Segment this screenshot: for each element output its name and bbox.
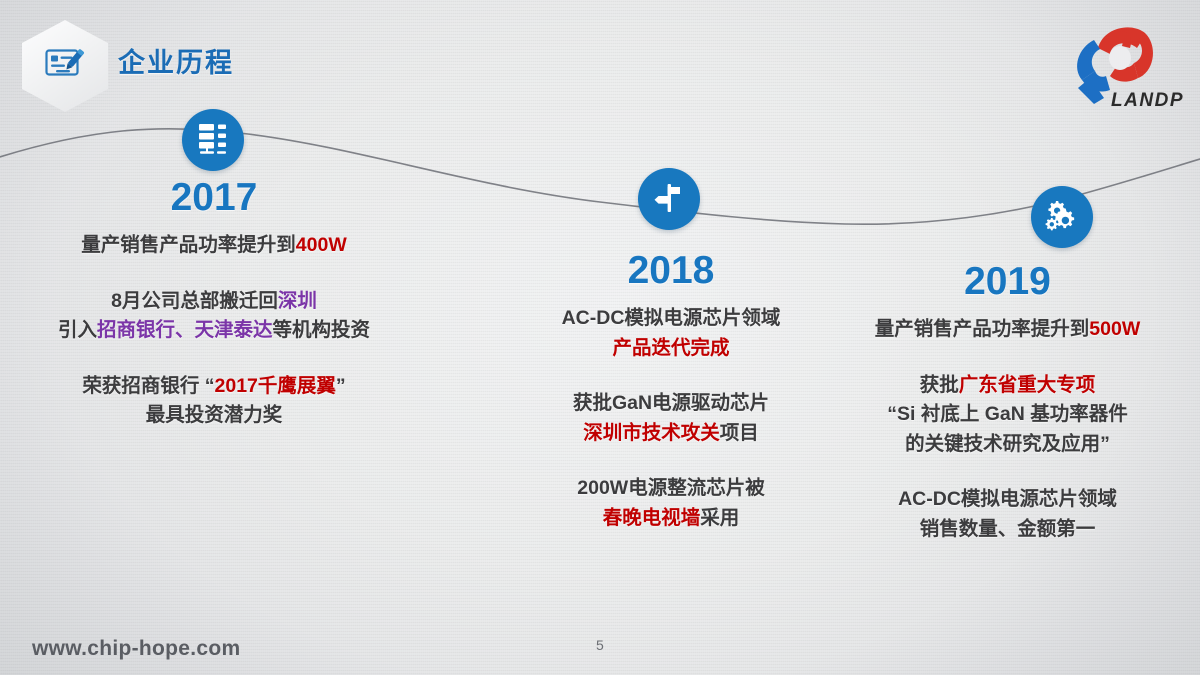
milestone-paragraph: 200W电源整流芯片被春晚电视墙采用 <box>475 474 867 533</box>
milestone-node-2018[interactable] <box>638 168 700 230</box>
milestone-line: 量产销售产品功率提升到400W <box>18 231 410 261</box>
milestone-line: 的关键技术研究及应用” <box>820 430 1195 460</box>
milestone-body: AC-DC模拟电源芯片领域产品迭代完成获批GaN电源驱动芯片深圳市技术攻关项目2… <box>475 304 867 534</box>
page-title: 企业历程 <box>118 41 234 80</box>
logo-wordmark: LANDP <box>1111 90 1184 112</box>
milestone-column-2018: 2018 AC-DC模拟电源芯片领域产品迭代完成获批GaN电源驱动芯片深圳市技术… <box>475 251 867 534</box>
text-run: 2017千鹰展翼 <box>215 375 336 397</box>
milestone-column-2017: 2017 量产销售产品功率提升到400W8月公司总部搬迁回深圳引入招商银行、天津… <box>18 178 410 431</box>
milestone-line: 获批GaN电源驱动芯片 <box>475 389 867 419</box>
text-run: 400W <box>296 234 347 256</box>
text-run: 深圳市技术攻关 <box>583 422 720 444</box>
text-run: 等机构投资 <box>273 319 371 341</box>
milestone-line: 引入招商银行、天津泰达等机构投资 <box>18 316 410 346</box>
text-run: 广东省重大专项 <box>959 374 1096 396</box>
milestone-line: 产品迭代完成 <box>475 334 867 364</box>
text-run: 采用 <box>700 507 739 529</box>
text-run: 获批GaN电源驱动芯片 <box>573 392 769 414</box>
milestone-line: 春晚电视墙采用 <box>475 504 867 534</box>
milestone-paragraph: 量产销售产品功率提升到400W <box>18 231 410 261</box>
text-run: 量产销售产品功率提升到 <box>81 234 296 256</box>
milestone-line: AC-DC模拟电源芯片领域 <box>820 485 1195 515</box>
milestone-year: 2017 <box>18 178 410 219</box>
text-run: “Si 衬底上 GaN 基功率器件 <box>887 403 1128 425</box>
milestone-column-2019: 2019 量产销售产品功率提升到500W获批广东省重大专项“Si 衬底上 GaN… <box>820 262 1195 545</box>
milestone-line: 量产销售产品功率提升到500W <box>820 315 1195 345</box>
milestone-line: 最具投资潜力奖 <box>18 401 410 431</box>
text-run: 深圳 <box>278 290 317 312</box>
milestone-paragraph: 荣获招商银行 “2017千鹰展翼”最具投资潜力奖 <box>18 372 410 431</box>
milestone-line: 荣获招商银行 “2017千鹰展翼” <box>18 372 410 402</box>
milestone-body: 量产销售产品功率提升到500W获批广东省重大专项“Si 衬底上 GaN 基功率器… <box>820 315 1195 545</box>
milestone-paragraph: 量产销售产品功率提升到500W <box>820 315 1195 345</box>
text-run: ” <box>336 375 346 397</box>
text-run: 项目 <box>720 422 759 444</box>
text-run: 招商银行、天津泰达 <box>97 319 273 341</box>
gears-icon <box>1045 199 1079 236</box>
milestone-node-2017[interactable] <box>182 109 244 171</box>
website-url: www.chip-hope.com <box>32 637 241 661</box>
text-run: AC-DC模拟电源芯片领域 <box>562 307 781 329</box>
text-run: AC-DC模拟电源芯片领域 <box>898 488 1117 510</box>
milestone-year: 2018 <box>475 251 867 292</box>
text-run: 最具投资潜力奖 <box>146 404 283 426</box>
text-run: 春晚电视墙 <box>603 507 701 529</box>
text-run: 200W电源整流芯片被 <box>577 477 764 499</box>
milestone-line: 8月公司总部搬迁回深圳 <box>18 287 410 317</box>
milestone-paragraph: AC-DC模拟电源芯片领域销售数量、金额第一 <box>820 485 1195 544</box>
milestone-year: 2019 <box>820 262 1195 303</box>
text-run: 产品迭代完成 <box>612 337 729 359</box>
milestone-line: AC-DC模拟电源芯片领域 <box>475 304 867 334</box>
title-badge <box>22 20 108 112</box>
milestone-paragraph: AC-DC模拟电源芯片领域产品迭代完成 <box>475 304 867 363</box>
text-run: 引入 <box>58 319 97 341</box>
server-rack-icon <box>196 121 230 160</box>
signpost-icon <box>653 180 685 219</box>
milestone-paragraph: 8月公司总部搬迁回深圳引入招商银行、天津泰达等机构投资 <box>18 287 410 346</box>
text-run: 8月公司总部搬迁回 <box>111 290 278 312</box>
milestone-line: “Si 衬底上 GaN 基功率器件 <box>820 400 1195 430</box>
milestone-line: 200W电源整流芯片被 <box>475 474 867 504</box>
milestone-line: 获批广东省重大专项 <box>820 371 1195 401</box>
slide-canvas: 企业历程 LANDP <box>0 0 1200 675</box>
milestone-paragraph: 获批广东省重大专项“Si 衬底上 GaN 基功率器件的关键技术研究及应用” <box>820 371 1195 460</box>
text-run: 量产销售产品功率提升到 <box>875 318 1090 340</box>
document-pen-icon <box>43 44 87 89</box>
company-logo: LANDP <box>1042 14 1192 114</box>
text-run: 的关键技术研究及应用” <box>905 433 1110 455</box>
milestone-node-2019[interactable] <box>1031 186 1093 248</box>
milestone-line: 深圳市技术攻关项目 <box>475 419 867 449</box>
text-run: 荣获招商银行 “ <box>82 375 214 397</box>
text-run: 获批 <box>920 374 959 396</box>
page-number: 5 <box>596 637 604 653</box>
milestone-paragraph: 获批GaN电源驱动芯片深圳市技术攻关项目 <box>475 389 867 448</box>
milestone-line: 销售数量、金额第一 <box>820 515 1195 545</box>
milestone-body: 量产销售产品功率提升到400W8月公司总部搬迁回深圳引入招商银行、天津泰达等机构… <box>18 231 410 431</box>
text-run: 销售数量、金额第一 <box>920 518 1096 540</box>
text-run: 500W <box>1089 318 1140 340</box>
